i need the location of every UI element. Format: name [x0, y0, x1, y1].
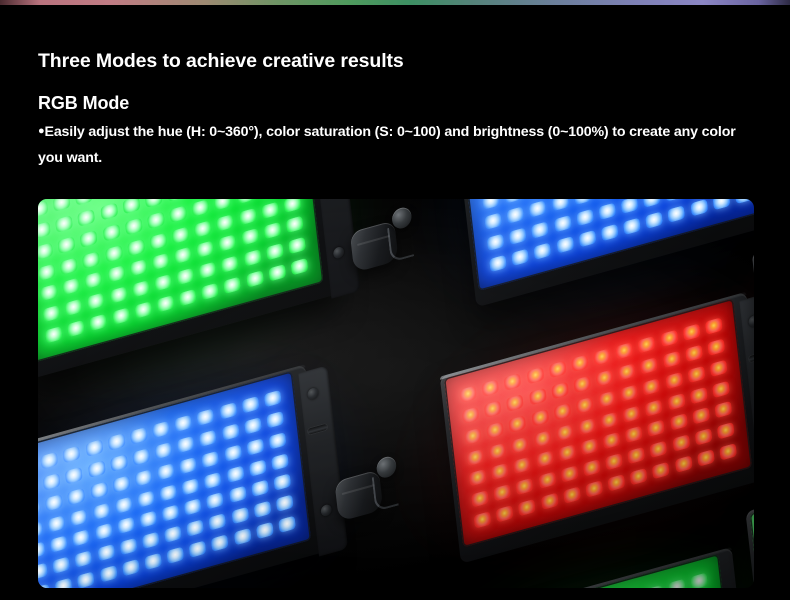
led-dot — [504, 199, 522, 203]
led-dot — [672, 434, 690, 452]
led-dot — [623, 217, 641, 235]
led-dot — [264, 389, 282, 407]
led-dot — [533, 242, 551, 260]
led-dot — [90, 481, 108, 499]
led-dot — [506, 206, 524, 224]
led-dot — [229, 485, 247, 503]
led-dot — [77, 571, 95, 588]
led-dot — [223, 276, 241, 294]
led-dot — [144, 552, 162, 570]
led-dot — [554, 214, 572, 232]
led-dot — [74, 550, 92, 568]
led-dot — [717, 421, 735, 439]
led-dot — [690, 572, 708, 588]
led-dot — [489, 254, 507, 272]
page-title: Three Modes to achieve creative results — [38, 48, 754, 74]
led-dot — [574, 199, 592, 205]
led-dot — [710, 359, 728, 377]
led-dot — [683, 323, 701, 341]
led-panel-scene — [38, 199, 754, 588]
led-dot — [625, 425, 643, 443]
led-dot — [580, 437, 598, 455]
led-dot — [579, 229, 597, 247]
led-dot — [663, 350, 681, 368]
led-dot — [219, 402, 237, 420]
led-dot — [707, 338, 725, 356]
led-dot — [649, 440, 667, 458]
led-dot — [647, 419, 665, 437]
led-dot — [112, 307, 130, 325]
led-dot — [534, 430, 552, 448]
led-dot — [241, 227, 259, 245]
panel-blue-mid-right — [459, 199, 754, 291]
led-dot — [690, 386, 708, 404]
feature-bullet-text: Easily adjust the hue (H: 0~360°), color… — [38, 124, 736, 166]
led-dot — [42, 304, 60, 322]
led-dot — [266, 410, 284, 428]
led-dot — [576, 208, 594, 226]
led-dot — [551, 381, 569, 399]
led-dot — [484, 400, 502, 418]
led-dot — [234, 527, 252, 545]
led-dot — [179, 288, 197, 306]
led-dot — [38, 541, 45, 559]
led-dot — [174, 414, 192, 432]
led-dot — [593, 348, 611, 366]
led-dot — [630, 467, 648, 485]
led-dot — [705, 317, 723, 335]
led-dot — [714, 400, 732, 418]
led-dot — [291, 257, 309, 275]
led-dot — [75, 199, 93, 205]
led-dot — [713, 199, 731, 210]
led-dot — [598, 390, 616, 408]
led-dot — [529, 200, 547, 218]
led-dot — [697, 449, 715, 467]
led-dot — [539, 471, 557, 489]
led-dot — [573, 375, 591, 393]
led-dot — [620, 384, 638, 402]
led-dot — [38, 521, 43, 539]
led-dot — [38, 263, 56, 281]
led-dot — [196, 408, 214, 426]
hinge-arm — [387, 221, 414, 262]
led-dot — [130, 426, 148, 444]
led-dot — [496, 505, 514, 523]
led-dot — [735, 199, 753, 204]
led-dot — [549, 360, 567, 378]
led-dot — [605, 452, 623, 470]
led-dot — [57, 236, 75, 254]
led-dot — [152, 252, 170, 270]
led-dot — [134, 301, 152, 319]
hinge-arm — [372, 471, 399, 512]
led-dot — [164, 525, 182, 543]
led-dot — [493, 483, 511, 501]
led-dot — [506, 394, 524, 412]
led-dot — [162, 504, 180, 522]
led-dot — [38, 500, 41, 518]
led-dot — [115, 496, 133, 514]
led-dot — [152, 420, 170, 438]
led-dot — [637, 335, 655, 353]
led-dot — [172, 226, 190, 244]
led-dot — [466, 448, 484, 466]
led-dot — [561, 465, 579, 483]
led-dot — [145, 199, 163, 207]
led-dot — [67, 319, 85, 337]
led-dot — [603, 431, 621, 449]
led-dot — [670, 413, 688, 431]
led-dot — [88, 460, 106, 478]
led-dot — [181, 478, 199, 496]
led-dot — [55, 577, 73, 588]
led-dot — [251, 479, 269, 497]
led-dot — [508, 415, 526, 433]
led-dot — [256, 521, 274, 539]
led-dot — [184, 498, 202, 516]
led-dot — [189, 540, 207, 558]
led-dot — [89, 313, 107, 331]
led-dot — [622, 405, 640, 423]
led-dot — [206, 491, 224, 509]
led-dot — [132, 280, 150, 298]
led-dot — [685, 344, 703, 362]
led-dot — [675, 455, 693, 473]
led-dot — [196, 240, 214, 258]
led-dot — [462, 406, 480, 424]
led-dot — [159, 484, 177, 502]
led-dot — [216, 214, 234, 232]
led-dot — [43, 472, 61, 490]
led-dot — [204, 471, 222, 489]
led-dot — [618, 363, 636, 381]
led-dot — [130, 258, 148, 276]
led-dot — [222, 423, 240, 441]
page-root: Three Modes to achieve creative results … — [0, 0, 790, 600]
led-dot — [120, 537, 138, 555]
led-dot — [688, 365, 706, 383]
led-dot — [482, 199, 500, 209]
led-dot — [640, 357, 658, 375]
led-dot — [201, 450, 219, 468]
text-block: Three Modes to achieve creative results … — [38, 48, 754, 171]
led-dot — [139, 510, 157, 528]
led-dot — [147, 211, 165, 229]
led-dot — [484, 212, 502, 230]
led-dot — [278, 515, 296, 533]
led-dot — [531, 221, 549, 239]
led-dot — [513, 456, 531, 474]
led-dot — [154, 441, 172, 459]
led-dot — [486, 421, 504, 439]
led-dot — [199, 261, 217, 279]
led-dot — [690, 199, 708, 216]
led-dot — [52, 556, 70, 574]
led-dot — [536, 450, 554, 468]
led-dot — [224, 444, 242, 462]
led-dot — [231, 506, 249, 524]
led-dot — [598, 202, 616, 220]
led-dot — [719, 443, 737, 461]
led-dot — [167, 199, 185, 201]
led-dot — [38, 562, 48, 580]
led-dot — [264, 221, 282, 239]
led-dot — [531, 408, 549, 426]
led-dot — [87, 292, 105, 310]
led-dot — [103, 223, 121, 241]
led-dot — [244, 417, 262, 435]
led-dot — [95, 522, 113, 540]
led-dot — [288, 236, 306, 254]
led-dot — [179, 456, 197, 474]
led-dot — [72, 529, 90, 547]
led-dot — [242, 395, 260, 413]
led-dot — [642, 378, 660, 396]
led-dot — [665, 371, 683, 389]
led-dot — [105, 244, 123, 262]
led-dot — [174, 246, 192, 264]
led-dot — [273, 473, 291, 491]
led-dot — [576, 396, 594, 414]
led-dot — [481, 379, 499, 397]
led-dot — [558, 444, 576, 462]
led-dot — [166, 546, 184, 564]
led-dot — [123, 199, 141, 214]
led-dot — [97, 543, 115, 561]
led-dot — [571, 354, 589, 372]
led-dot — [55, 215, 73, 233]
led-dot — [607, 474, 625, 492]
led-dot — [65, 466, 83, 484]
rainbow-gradient-strip — [0, 0, 790, 5]
led-dot — [38, 200, 48, 218]
led-dot — [199, 429, 217, 447]
led-dot — [62, 277, 80, 295]
led-dot — [554, 402, 572, 420]
led-dot — [237, 199, 255, 204]
led-dot — [491, 462, 509, 480]
led-dot — [487, 233, 505, 251]
led-dot — [38, 242, 53, 260]
led-dot — [646, 584, 664, 588]
led-dot — [40, 451, 58, 469]
led-dot — [645, 399, 663, 417]
led-dot — [47, 515, 65, 533]
led-dot — [473, 511, 491, 529]
led-dot — [45, 325, 63, 343]
led-dot — [108, 433, 126, 451]
led-dot — [563, 486, 581, 504]
led-dot — [107, 265, 125, 283]
led-dot — [157, 294, 175, 312]
led-dot — [509, 227, 527, 245]
led-dot — [254, 500, 272, 518]
led-dot — [276, 494, 294, 512]
led-dot — [65, 298, 83, 316]
led-dot — [469, 468, 487, 486]
led-dot — [40, 283, 58, 301]
led-dot — [201, 282, 219, 300]
led-dot — [154, 273, 172, 291]
led-dot — [186, 519, 204, 537]
led-dot — [67, 487, 85, 505]
led-dot — [93, 502, 111, 520]
led-dot — [84, 271, 102, 289]
led-dot — [596, 369, 614, 387]
led-dot — [53, 199, 71, 211]
panel-red-lower-right — [444, 298, 752, 547]
led-dot — [464, 427, 482, 445]
led-dot — [246, 438, 264, 456]
led-dot — [665, 199, 683, 201]
led-dot — [208, 513, 226, 531]
led-dot — [556, 423, 574, 441]
led-dot — [511, 248, 529, 266]
led-dot — [244, 249, 262, 267]
led-dot — [227, 465, 245, 483]
led-dot — [191, 199, 209, 216]
led-dot — [627, 446, 645, 464]
led-dot — [645, 211, 663, 229]
led-dot — [615, 342, 633, 360]
led-dot — [712, 380, 730, 398]
product-photo — [38, 199, 754, 588]
led-dot — [38, 221, 51, 239]
led-dot — [668, 578, 686, 588]
led-dot — [503, 373, 521, 391]
led-dot — [211, 534, 229, 552]
led-dot — [667, 205, 685, 223]
led-dot — [583, 459, 601, 477]
led-dot — [194, 220, 212, 238]
led-dot — [692, 406, 710, 424]
led-dot — [668, 392, 686, 410]
led-dot — [169, 205, 187, 223]
led-dot — [100, 202, 118, 220]
led-dot — [552, 199, 570, 211]
led-dot — [100, 564, 118, 582]
led-dot — [541, 492, 559, 510]
led-dot — [266, 242, 284, 260]
led-dot — [652, 461, 670, 479]
led-dot — [459, 385, 477, 403]
panel-blue-lower-center — [38, 370, 311, 588]
led-dot — [269, 432, 287, 450]
led-dot — [214, 199, 232, 210]
led-dot — [286, 215, 304, 233]
led-dot — [117, 516, 135, 534]
led-dot — [661, 329, 679, 347]
feature-bullet: ●Easily adjust the hue (H: 0~360°), colo… — [38, 118, 744, 171]
led-dot — [600, 411, 618, 429]
led-dot — [122, 558, 140, 576]
led-dot — [246, 270, 264, 288]
led-dot — [283, 199, 301, 213]
led-dot — [149, 232, 167, 250]
led-dot — [110, 454, 128, 472]
led-dot — [80, 230, 98, 248]
led-dot — [142, 531, 160, 549]
led-dot — [529, 387, 547, 405]
led-dot — [621, 199, 639, 214]
led-dot — [601, 223, 619, 241]
led-dot — [578, 417, 596, 435]
led-dot — [113, 475, 131, 493]
panel-green-center — [38, 199, 324, 362]
led-dot — [511, 436, 529, 454]
led-dot — [489, 442, 507, 460]
led-dot — [271, 453, 289, 471]
led-dot — [77, 209, 95, 227]
led-dot — [221, 255, 239, 273]
section-subtitle: RGB Mode — [38, 91, 754, 115]
led-dot — [157, 463, 175, 481]
led-dot — [556, 235, 574, 253]
led-dot — [127, 238, 145, 256]
led-dot — [70, 509, 88, 527]
led-dot — [518, 498, 536, 516]
led-dot — [471, 490, 489, 508]
led-dot — [125, 217, 143, 235]
led-dot — [643, 199, 661, 207]
led-dot — [137, 490, 155, 508]
led-dot — [135, 469, 153, 487]
led-dot — [261, 201, 279, 219]
led-dot — [218, 234, 236, 252]
led-dot — [515, 477, 533, 495]
led-dot — [45, 494, 63, 512]
led-dot — [50, 535, 68, 553]
led-dot — [86, 439, 104, 457]
led-dot — [695, 428, 713, 446]
led-dot — [132, 448, 150, 466]
led-dot — [176, 267, 194, 285]
led-dot — [60, 257, 78, 275]
led-dot — [527, 366, 545, 384]
led-dot — [110, 286, 128, 304]
led-dot — [249, 459, 267, 477]
led-dot — [268, 263, 286, 281]
led-dot — [82, 251, 100, 269]
led-dot — [62, 445, 80, 463]
led-dot — [177, 435, 195, 453]
led-dot — [585, 480, 603, 498]
led-dot — [38, 583, 50, 588]
led-dot — [239, 207, 257, 225]
